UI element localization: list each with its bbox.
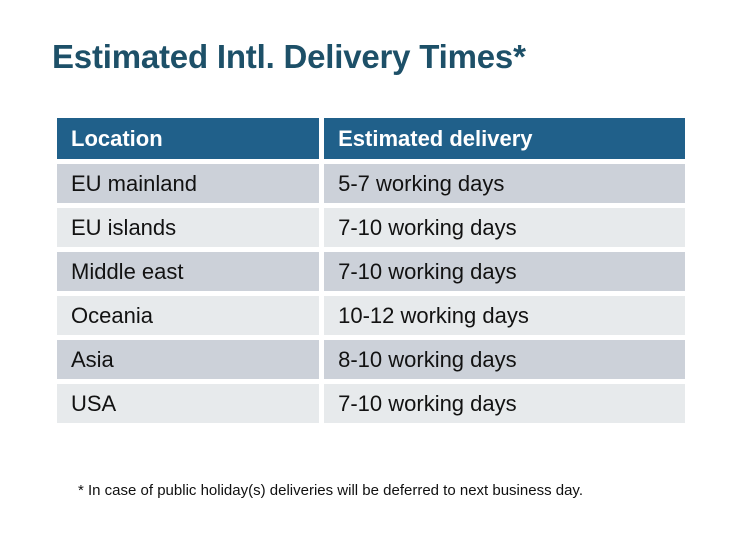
table-row: USA 7-10 working days (57, 384, 685, 423)
page-title: Estimated Intl. Delivery Times* (52, 36, 526, 78)
cell-location: Asia (57, 340, 319, 379)
table-header-row: Location Estimated delivery (57, 118, 685, 159)
cell-estimated-delivery: 7-10 working days (324, 208, 685, 247)
cell-estimated-delivery: 10-12 working days (324, 296, 685, 335)
cell-estimated-delivery: 7-10 working days (324, 252, 685, 291)
table-row: Asia 8-10 working days (57, 340, 685, 379)
table-row: EU islands 7-10 working days (57, 208, 685, 247)
cell-location: USA (57, 384, 319, 423)
cell-location: EU islands (57, 208, 319, 247)
cell-estimated-delivery: 5-7 working days (324, 164, 685, 203)
table-header: Location Estimated delivery (57, 118, 685, 159)
cell-location: EU mainland (57, 164, 319, 203)
column-header-location: Location (57, 118, 319, 159)
delivery-times-page: Estimated Intl. Delivery Times* Location… (0, 0, 745, 536)
cell-location: Oceania (57, 296, 319, 335)
footnote-text: * In case of public holiday(s) deliverie… (78, 481, 583, 501)
column-header-estimated-delivery: Estimated delivery (324, 118, 685, 159)
cell-location: Middle east (57, 252, 319, 291)
table-body: EU mainland 5-7 working days EU islands … (57, 164, 685, 423)
delivery-times-table: Location Estimated delivery EU mainland … (52, 113, 690, 428)
cell-estimated-delivery: 7-10 working days (324, 384, 685, 423)
cell-estimated-delivery: 8-10 working days (324, 340, 685, 379)
table-row: EU mainland 5-7 working days (57, 164, 685, 203)
table-row: Middle east 7-10 working days (57, 252, 685, 291)
table-row: Oceania 10-12 working days (57, 296, 685, 335)
